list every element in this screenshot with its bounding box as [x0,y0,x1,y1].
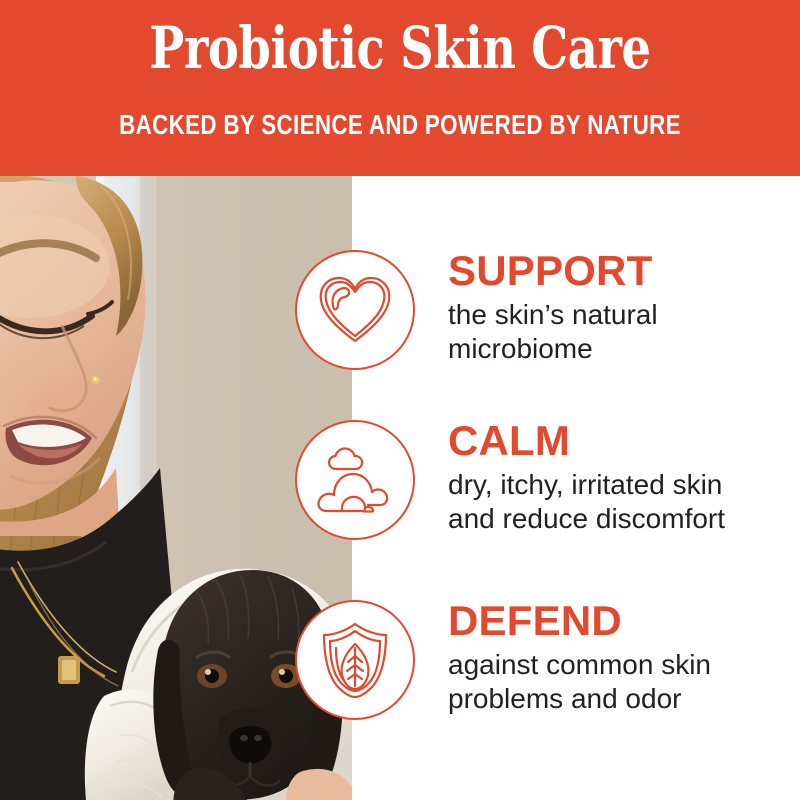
page-subtitle: BACKED BY SCIENCE AND POWERED BY NATURE [80,108,720,142]
page-title: Probiotic Skin Care [80,17,720,79]
benefits-panel: SUPPORT the skin’s natural microbiome [352,176,800,800]
benefit-heading-defend: DEFEND [448,598,800,644]
benefit-body-support: the skin’s natural microbiome [448,298,800,366]
header-banner: Probiotic Skin Care BACKED BY SCIENCE AN… [0,0,800,176]
benefit-body-support-line-2: microbiome [448,332,800,366]
heart-icon [295,250,415,370]
benefit-body-calm: dry, itchy, irritated skin and reduce di… [448,468,800,536]
benefit-text-support: SUPPORT the skin’s natural microbiome [448,248,800,366]
benefit-heading-support: SUPPORT [448,248,800,294]
benefit-body-defend-line-1: against common skin [448,648,800,682]
heart-icon-glyph [317,275,393,345]
benefit-body-support-line-1: the skin’s natural [448,298,800,332]
shield-leaf-icon-glyph [320,622,390,698]
suds-cloud-icon [295,420,415,540]
benefit-text-defend: DEFEND against common skin problems and … [448,598,800,716]
probiotic-skin-care-poster: Probiotic Skin Care BACKED BY SCIENCE AN… [0,0,800,800]
benefit-body-calm-line-1: dry, itchy, irritated skin [448,468,800,502]
benefit-text-calm: CALM dry, itchy, irritated skin and redu… [448,418,800,536]
benefit-body-calm-line-2: and reduce discomfort [448,502,800,536]
benefit-body-defend: against common skin problems and odor [448,648,800,716]
benefit-body-defend-line-2: problems and odor [448,682,800,716]
suds-cloud-icon-glyph [316,447,394,513]
shield-leaf-icon [295,600,415,720]
benefit-heading-calm: CALM [448,418,800,464]
